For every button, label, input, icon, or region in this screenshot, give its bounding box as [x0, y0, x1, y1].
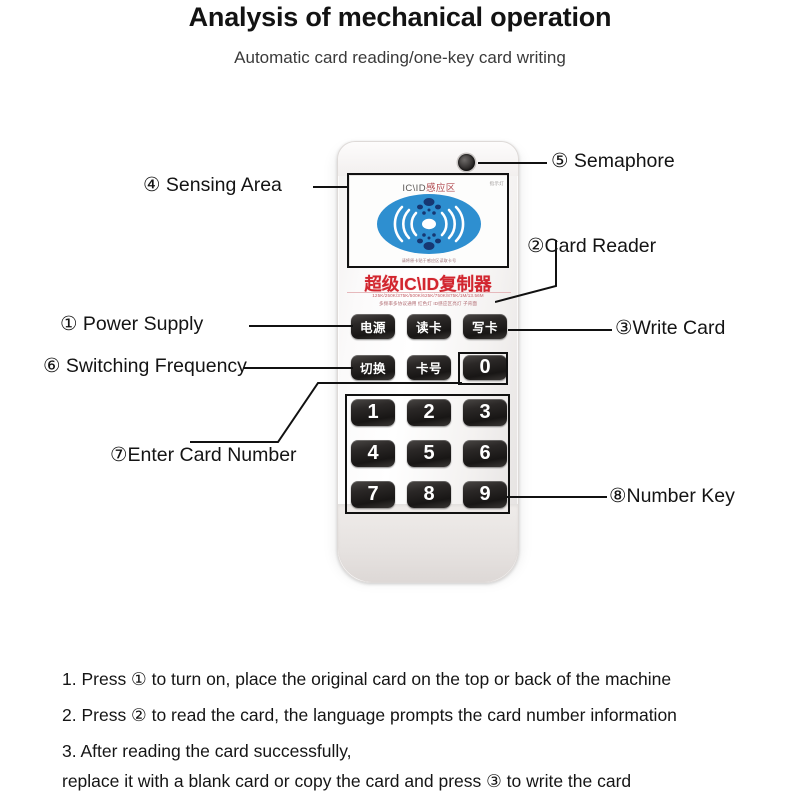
callout-marker-8: ⑧ — [609, 485, 626, 507]
highlight-box-sensing-area — [347, 173, 509, 268]
page-title: Analysis of mechanical operation — [0, 2, 800, 33]
callout-marker-7: ⑦ — [110, 444, 127, 466]
callout-label-6: Switching Frequency — [66, 355, 247, 377]
callout-card-reader: ②Card Reader — [527, 234, 656, 258]
callout-write-card: ③Write Card — [615, 316, 725, 340]
callout-label-7: Enter Card Number — [127, 444, 296, 466]
callout-marker-5: ⑤ — [551, 150, 568, 172]
callout-label-8: Number Key — [626, 485, 734, 507]
spec-line-1: 125K/250K/375K/500K/625K/750K/875K/1M/13… — [338, 293, 518, 298]
callout-marker-1: ① — [60, 313, 77, 335]
leader-line-write-card — [508, 329, 612, 331]
write-card-key[interactable]: 写卡 — [463, 314, 507, 339]
leader-line-power-supply — [249, 325, 353, 327]
device-bottom-face — [338, 504, 518, 582]
callout-enter-card-number: ⑦Enter Card Number — [110, 443, 297, 467]
callout-power-supply: ① Power Supply — [60, 312, 203, 336]
callout-label-4: Sensing Area — [166, 174, 282, 196]
leader-line-switching-frequency — [243, 367, 353, 369]
leader-line-sensing-area — [313, 186, 349, 188]
callout-marker-2: ② — [527, 235, 544, 257]
callout-switching-frequency: ⑥ Switching Frequency — [43, 354, 247, 378]
callout-label-5: Semaphore — [574, 150, 675, 172]
callout-semaphore: ⑤ Semaphore — [551, 149, 675, 173]
read-card-key[interactable]: 读卡 — [407, 314, 451, 339]
callout-marker-6: ⑥ — [43, 355, 60, 377]
diagram-canvas: Analysis of mechanical operation Automat… — [0, 0, 800, 800]
instruction-line-1: 1. Press ① to turn on, place the origina… — [62, 669, 671, 690]
leader-line-number-key — [507, 496, 607, 498]
callout-marker-4: ④ — [143, 174, 160, 196]
callout-label-2: Card Reader — [544, 235, 656, 257]
callout-number-key: ⑧Number Key — [609, 484, 735, 508]
device-top-face — [338, 142, 518, 176]
power-key[interactable]: 电源 — [351, 314, 395, 339]
callout-label-1: Power Supply — [83, 313, 203, 335]
instruction-line-4: replace it with a blank card or copy the… — [62, 771, 631, 792]
leader-line-enter-card-number — [190, 375, 480, 445]
status-led-indicator — [458, 154, 475, 171]
page-subtitle: Automatic card reading/one-key card writ… — [0, 48, 800, 68]
instruction-line-3: 3. After reading the card successfully, — [62, 741, 352, 762]
spec-line-2: 多频率多协议通用 红色灯 ID感应区亮灯 子背面 — [338, 301, 518, 307]
callout-marker-3: ③ — [615, 317, 632, 339]
callout-label-3: Write Card — [632, 317, 725, 339]
callout-sensing-area: ④ Sensing Area — [143, 173, 282, 197]
leader-line-semaphore — [478, 162, 547, 164]
instruction-line-2: 2. Press ② to read the card, the languag… — [62, 705, 677, 726]
